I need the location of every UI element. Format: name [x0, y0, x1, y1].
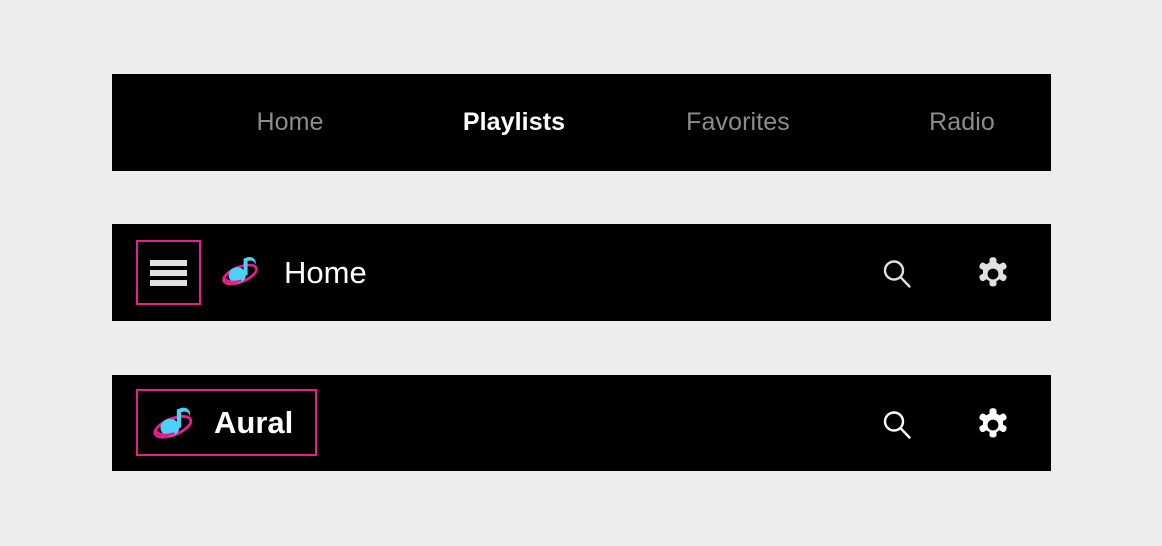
tab-favorites[interactable]: Favorites [634, 74, 842, 171]
settings-button[interactable] [974, 406, 1012, 444]
tab-radio-label: Radio [929, 110, 995, 135]
tab-home-label: Home [256, 110, 323, 135]
brand-home-button[interactable]: Aural [136, 389, 317, 456]
app-bar-title: Home [284, 257, 367, 288]
tab-radio[interactable]: Radio [858, 74, 1066, 171]
tab-home[interactable]: Home [186, 74, 394, 171]
tab-list: Home Playlists Favorites Radio [112, 74, 1051, 171]
hamburger-menu-button[interactable] [136, 240, 201, 305]
aural-music-note-logo-icon [219, 249, 263, 293]
tab-favorites-label: Favorites [686, 110, 790, 135]
tab-playlists-label: Playlists [463, 110, 565, 135]
gear-icon [974, 255, 1012, 293]
tab-navigation-bar: Home Playlists Favorites Radio [112, 74, 1051, 171]
aural-music-note-logo-icon [150, 399, 198, 447]
brand-label: Aural [214, 407, 293, 438]
app-bar-home: Home [112, 224, 1051, 321]
settings-button[interactable] [974, 255, 1012, 293]
hamburger-menu-icon [150, 260, 187, 286]
gear-icon [974, 406, 1012, 444]
search-button[interactable] [880, 408, 914, 442]
search-button[interactable] [880, 257, 914, 291]
tab-playlists[interactable]: Playlists [410, 74, 618, 171]
app-bar-aural: Aural [112, 375, 1051, 471]
app-mockup-canvas: Home Playlists Favorites Radio [0, 0, 1162, 546]
search-icon [880, 408, 914, 442]
search-icon [880, 257, 914, 291]
